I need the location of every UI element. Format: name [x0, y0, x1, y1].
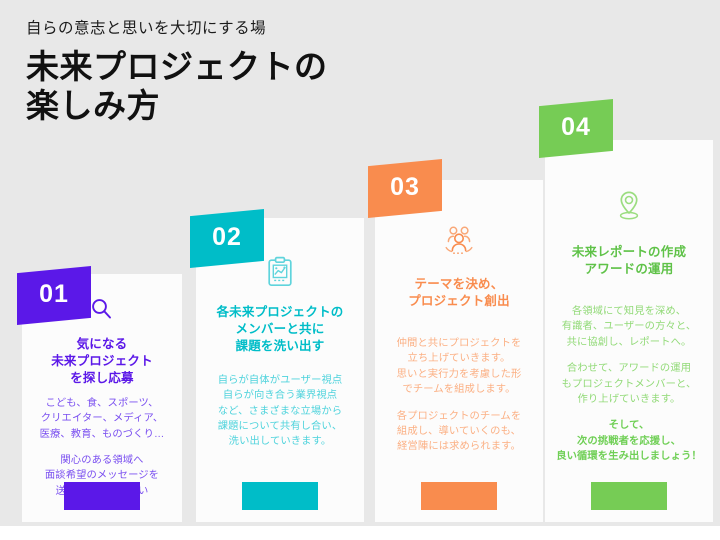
location-pin-icon [615, 190, 643, 222]
card-body-paragraph: 仲間と共にプロジェクトを 立ち上げていきます。 思いと実行力を考慮した形 でチー… [377, 336, 541, 398]
card-title-line: プロジェクト創出 [408, 293, 510, 310]
card-body-paragraph: 各領域にて知見を深め、 有識者、ユーザーの方々と、 共に協創し、レポートへ。 [544, 304, 714, 350]
step-number-label: 03 [390, 173, 420, 202]
clipboard-chart-icon [265, 256, 295, 288]
card-title-line: 未来レポートの作成 [572, 244, 686, 261]
page-title: 未来プロジェクトの 楽しみ方 [26, 48, 546, 126]
card-title-line: 各未来プロジェクトの [216, 304, 343, 321]
page-title-line1: 未来プロジェクトの [26, 48, 546, 87]
step-number-badge-01: 01 [17, 266, 91, 325]
card-accent-bar [64, 482, 140, 510]
card-title-line: 課題を洗い出す [216, 338, 343, 355]
search-icon [89, 296, 115, 322]
page-title-line2: 楽しみ方 [26, 87, 546, 126]
card-body-highlight: そして、 次の挑戦者を応援し、 良い循環を生み出しましょう！ [544, 418, 714, 464]
step-card-04[interactable]: 未来レポートの作成 アワードの運用 各領域にて知見を深め、 有識者、ユーザーの方… [545, 140, 713, 522]
card-title-line: 気になる [51, 336, 153, 353]
card-title: テーマを決め、 プロジェクト創出 [408, 276, 510, 310]
card-title: 気になる 未来プロジェクト を探し応募 [51, 336, 153, 387]
step-card-03[interactable]: テーマを決め、 プロジェクト創出 仲間と共にプロジェクトを 立ち上げていきます。… [375, 180, 543, 522]
slide-canvas: 自らの意志と思いを大切にする場 未来プロジェクトの 楽しみ方 気になる 未来プロ… [0, 0, 720, 540]
card-body-paragraph: こども、食、スポーツ、 クリエイター、メディア、 医療、教育、ものづくり… [26, 396, 178, 442]
eyebrow-text: 自らの意志と思いを大切にする場 [26, 20, 546, 39]
bottom-strip [0, 526, 720, 540]
step-number-badge-02: 02 [190, 209, 264, 268]
card-title-line: を探し応募 [51, 370, 153, 387]
step-number-label: 04 [561, 113, 591, 142]
card-title: 各未来プロジェクトの メンバーと共に 課題を洗い出す [216, 304, 343, 355]
slide-header: 自らの意志と思いを大切にする場 未来プロジェクトの 楽しみ方 [26, 20, 546, 125]
card-accent-bar [421, 482, 497, 510]
card-title-line: アワードの運用 [572, 261, 686, 278]
card-accent-bar [242, 482, 318, 510]
card-title-line: テーマを決め、 [408, 276, 510, 293]
card-accent-bar [591, 482, 667, 510]
step-number-label: 01 [39, 280, 69, 309]
card-body-paragraph: 各プロジェクトのチームを 組成し、導いていくのも、 経営陣には求められます。 [377, 409, 541, 455]
card-title: 未来レポートの作成 アワードの運用 [572, 244, 686, 278]
card-content: 未来レポートの作成 アワードの運用 各領域にて知見を深め、 有識者、ユーザーの方… [545, 140, 713, 522]
step-number-badge-03: 03 [368, 159, 442, 218]
card-body-paragraph: 自らが自体がユーザー視点 自らが向き合う業界視点 など、さまざまな立場から 課題… [198, 373, 362, 450]
step-number-label: 02 [212, 223, 242, 252]
card-body-paragraph: 合わせて、アワードの運用 もプロジェクトメンバーと、 作り上げていきます。 [544, 361, 714, 407]
card-title-line: メンバーと共に [216, 321, 343, 338]
step-number-badge-04: 04 [539, 99, 613, 158]
card-title-line: 未来プロジェクト [51, 353, 153, 370]
team-group-icon [443, 224, 475, 256]
card-content: テーマを決め、 プロジェクト創出 仲間と共にプロジェクトを 立ち上げていきます。… [375, 180, 543, 522]
